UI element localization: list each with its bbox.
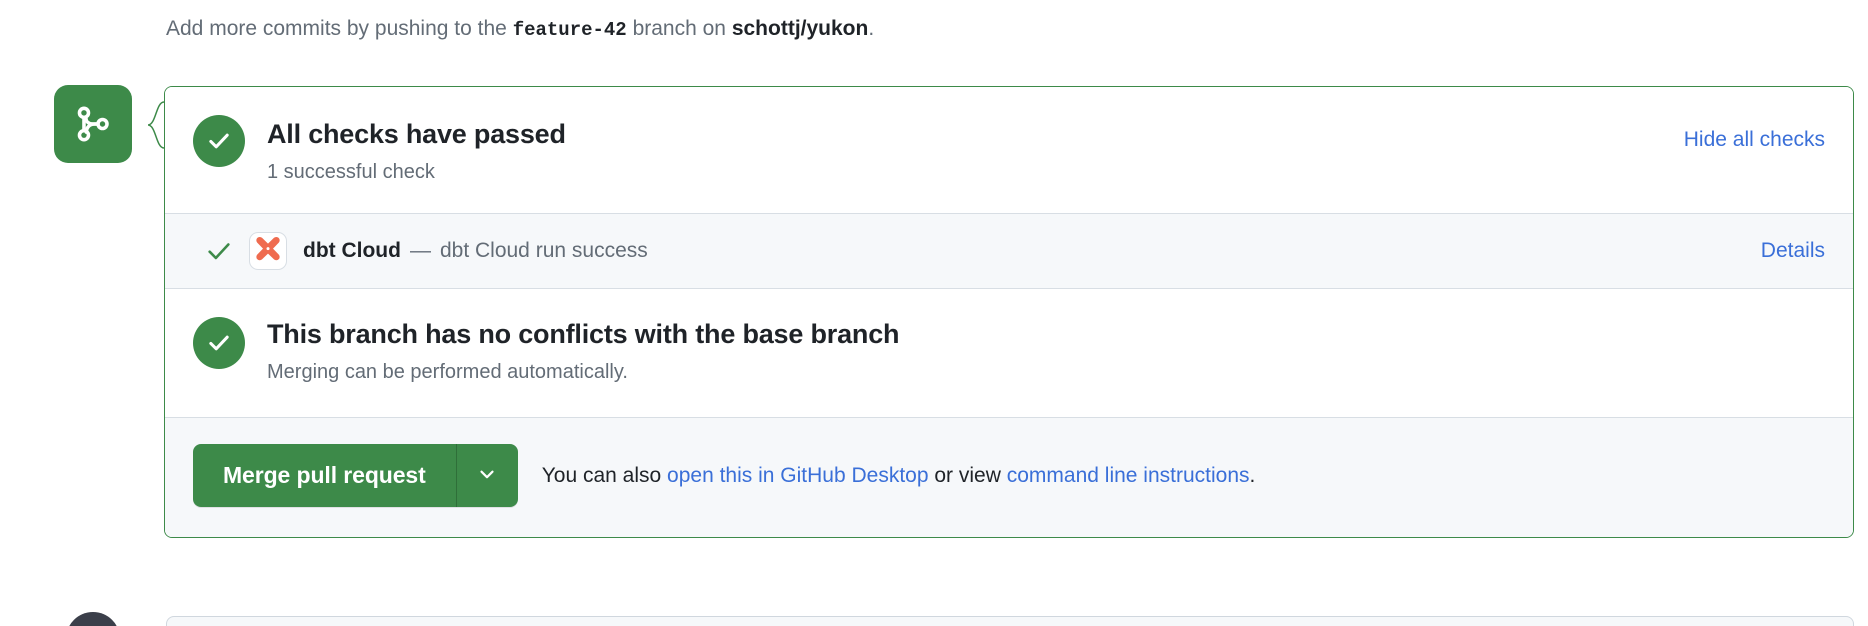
merge-box: All checks have passed 1 successful chec…: [164, 86, 1854, 538]
notice-middle: branch on: [633, 17, 726, 40]
conflicts-text: This branch has no conflicts with the ba…: [267, 317, 899, 387]
check-row: dbt Cloud — dbt Cloud run success Detail…: [165, 213, 1853, 289]
merge-actions-footer: Merge pull request You can also open thi…: [165, 418, 1853, 537]
push-more-commits-notice: Add more commits by pushing to the featu…: [166, 14, 874, 45]
checks-summary-text: All checks have passed 1 successful chec…: [267, 115, 1684, 187]
footer-text-suffix: .: [1250, 464, 1256, 487]
notice-prefix: Add more commits by pushing to the: [166, 17, 507, 40]
check-details-link[interactable]: Details: [1761, 239, 1825, 263]
check-separator: —: [410, 239, 431, 263]
repository-name: schottj/yukon: [732, 17, 869, 40]
command-line-instructions-link[interactable]: command line instructions: [1007, 464, 1250, 487]
merge-button-group: Merge pull request: [193, 444, 518, 507]
chevron-down-icon: [476, 463, 498, 488]
footer-text-middle: or view: [934, 464, 1001, 487]
hide-all-checks-label[interactable]: Hide all checks: [1684, 128, 1825, 151]
check-details-label[interactable]: Details: [1761, 239, 1825, 262]
check-app-name: dbt Cloud: [303, 239, 401, 263]
notice-suffix: .: [868, 17, 874, 40]
pull-request-merge-section: Add more commits by pushing to the featu…: [0, 0, 1868, 626]
checks-title: All checks have passed: [267, 117, 1684, 151]
merge-pull-request-button[interactable]: Merge pull request: [193, 444, 456, 507]
merge-footer-text: You can also open this in GitHub Desktop…: [542, 461, 1256, 491]
check-icon: [205, 237, 235, 265]
checks-summary-header: All checks have passed 1 successful chec…: [165, 87, 1853, 213]
check-circle-icon: [193, 115, 245, 167]
check-circle-icon: [193, 317, 245, 369]
avatar: [66, 612, 120, 626]
dbt-cloud-logo-icon: [249, 232, 287, 270]
hide-all-checks-toggle[interactable]: Hide all checks: [1684, 115, 1825, 155]
next-timeline-comment-box: [166, 616, 1854, 626]
check-description: dbt Cloud run success: [440, 239, 1761, 263]
callout-arrow: [147, 101, 163, 147]
open-in-github-desktop-link[interactable]: open this in GitHub Desktop: [667, 464, 928, 487]
merge-method-dropdown-button[interactable]: [456, 444, 518, 507]
conflicts-subtitle: Merging can be performed automatically.: [267, 357, 899, 387]
branch-name: feature-42: [513, 19, 627, 41]
git-merge-icon: [74, 105, 112, 143]
checks-subtitle: 1 successful check: [267, 157, 1684, 187]
footer-text-prefix: You can also: [542, 464, 662, 487]
merge-conflicts-status: This branch has no conflicts with the ba…: [165, 289, 1853, 418]
conflicts-title: This branch has no conflicts with the ba…: [267, 317, 899, 351]
git-merge-badge: [54, 85, 132, 163]
